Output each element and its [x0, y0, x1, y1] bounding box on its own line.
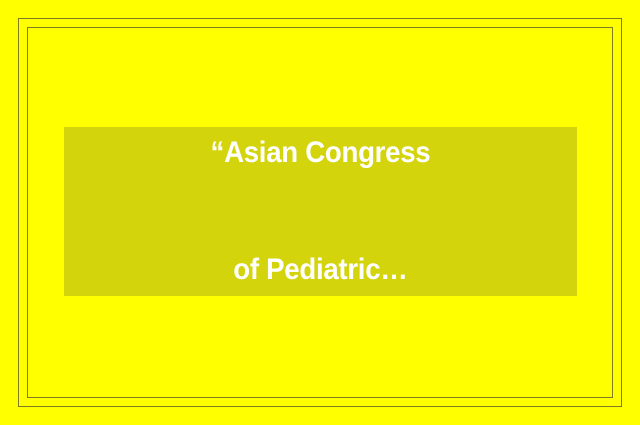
caption-line-2: of Pediatric… [211, 250, 431, 289]
slide-canvas: “Asian Congress of Pediatric… [0, 0, 640, 425]
caption-panel: “Asian Congress of Pediatric… [64, 127, 577, 296]
caption-text-block: “Asian Congress of Pediatric… [211, 55, 431, 369]
caption-line-1: “Asian Congress [211, 133, 431, 172]
